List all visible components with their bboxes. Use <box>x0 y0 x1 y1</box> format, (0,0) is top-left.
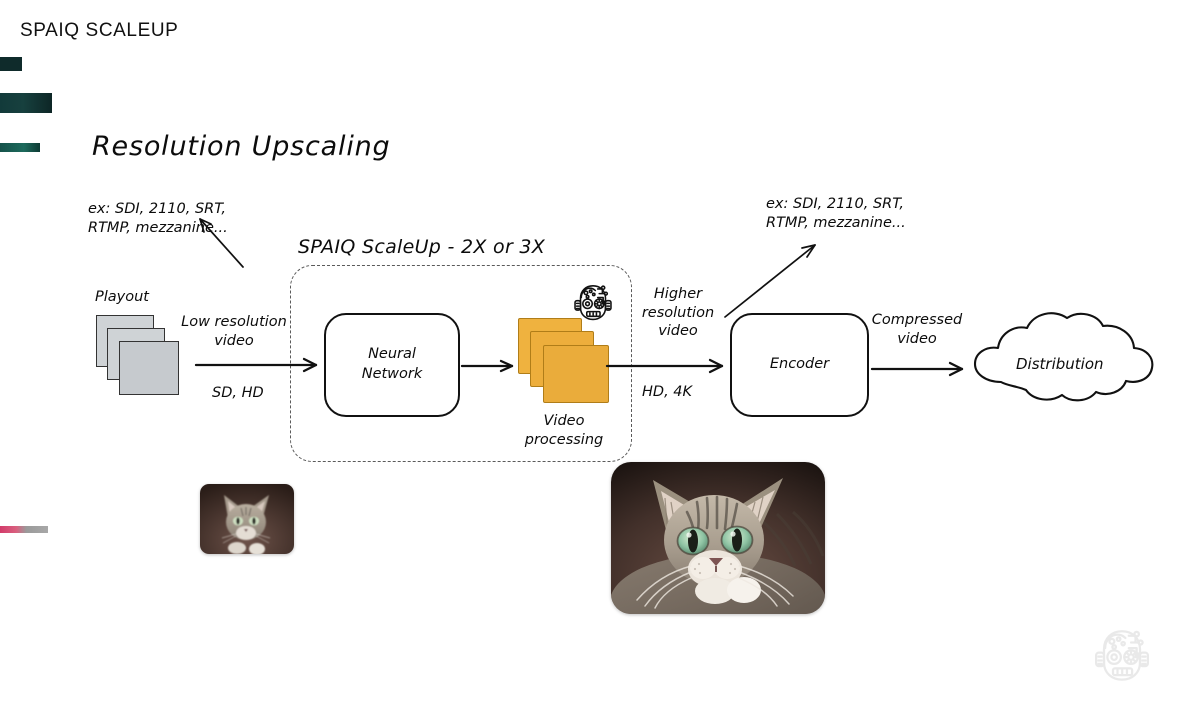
output-resolutions-label: HD, 4K <box>642 383 692 402</box>
edge-accent-bar-4 <box>0 526 48 533</box>
page-title: SPAIQ SCALEUP <box>20 20 178 42</box>
neural-network-label: Neural Network <box>362 345 423 384</box>
video-processing-stack <box>518 318 610 404</box>
processing-card-front <box>543 345 609 403</box>
encoded-stream-label: Compressed video <box>862 311 972 348</box>
video-processing-label: Video processing <box>506 412 622 449</box>
encoder-label: Encoder <box>770 355 829 375</box>
input-stream-label: Low resolution video <box>170 313 298 350</box>
robot-head-watermark-icon <box>1086 620 1158 692</box>
high-res-sample-image <box>611 462 825 614</box>
arrow-encoder-to-distribution <box>872 363 962 375</box>
low-res-sample-image <box>200 484 294 554</box>
edge-accent-bar-1 <box>0 57 22 71</box>
distribution-label: Distribution <box>1016 355 1104 374</box>
edge-accent-bar-3 <box>0 143 40 152</box>
neural-network-node[interactable]: Neural Network <box>324 313 460 417</box>
robot-head-icon <box>568 278 618 328</box>
input-format-note: ex: SDI, 2110, SRT, RTMP, mezzanine... <box>88 200 228 237</box>
slide-title: Resolution Upscaling <box>92 130 391 165</box>
input-resolutions-label: SD, HD <box>212 384 264 403</box>
output-format-note: ex: SDI, 2110, SRT, RTMP, mezzanine... <box>766 195 906 232</box>
playout-card-front <box>119 341 179 395</box>
source-label: Playout <box>95 288 149 307</box>
scaleup-container-title: SPAIQ ScaleUp - 2X or 3X <box>298 235 545 259</box>
edge-accent-bar-2 <box>0 93 52 113</box>
encoder-node[interactable]: Encoder <box>730 313 869 417</box>
output-format-callout-arrow <box>725 245 815 317</box>
output-stream-label: Higher resolution video <box>634 285 722 341</box>
slide-canvas: SPAIQ SCALEUP Resolution Upscaling SPAIQ… <box>0 0 1200 717</box>
playout-video-stack <box>96 315 180 395</box>
